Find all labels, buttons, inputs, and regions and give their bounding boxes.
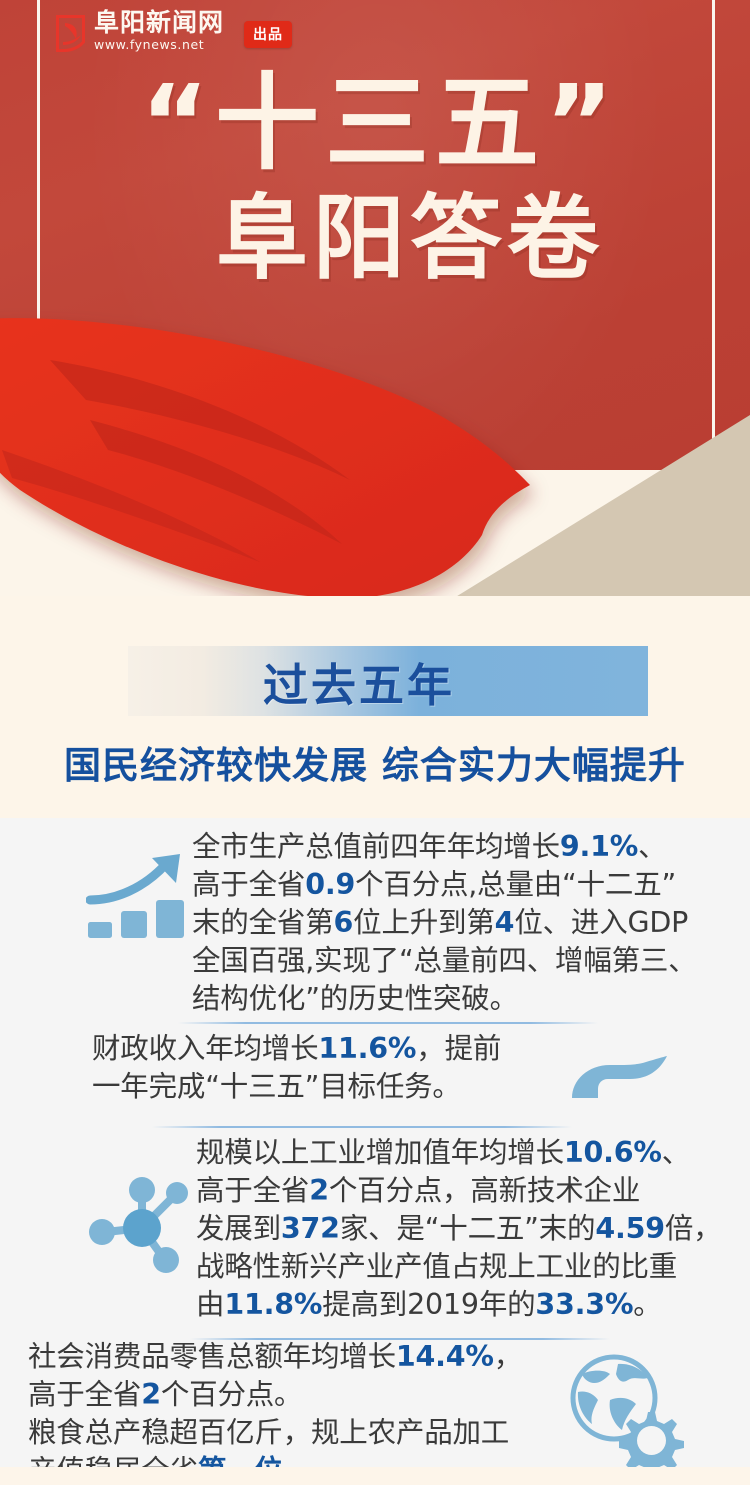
logo-text: 阜阳新闻网 www.fynews.net <box>94 10 224 52</box>
hero-section: 阜阳新闻网 www.fynews.net 出品 “十三五” 阜阳答卷 <box>0 0 750 640</box>
logo-site-name: 阜阳新闻网 <box>94 10 224 35</box>
highlight-value: 11.6% <box>318 1032 416 1065</box>
block-separator <box>152 1126 572 1128</box>
para-line: 全市生产总值前四年年均增长9.1%、 <box>192 828 740 866</box>
stat-block-retail-and-grain: 社会消费品零售总额年均增长14.4%， 高于全省2个百分点。 粮食总产稳超百亿斤… <box>0 1338 750 1485</box>
stat-block-fiscal-revenue: 财政收入年均增长11.6%，提前 一年完成“十三五”目标任务。 <box>0 1030 750 1106</box>
highlight-value: 14.4% <box>396 1340 494 1373</box>
infographic-page: 阜阳新闻网 www.fynews.net 出品 “十三五” 阜阳答卷 <box>0 0 750 1485</box>
highlight-value: 6 <box>334 906 354 939</box>
highlight-value: 10.6% <box>564 1136 662 1169</box>
site-logo[interactable]: 阜阳新闻网 www.fynews.net 出品 <box>56 10 292 52</box>
highlight-value: 4.59 <box>595 1212 665 1245</box>
content-section: 全市生产总值前四年年均增长9.1%、 高于全省0.9个百分点,总量由“十二五” … <box>0 818 750 1465</box>
para-line: 高于全省2个百分点。 <box>28 1376 568 1414</box>
highlight-value: 11.8% <box>224 1288 322 1321</box>
stat-block-gdp-growth: 全市生产总值前四年年均增长9.1%、 高于全省0.9个百分点,总量由“十二五” … <box>0 828 750 1018</box>
para-line: 战略性新兴产业产值占规上工业的比重 <box>196 1248 742 1286</box>
logo-site-url: www.fynews.net <box>94 39 224 52</box>
hand-holding-icon <box>568 1052 668 1112</box>
block-separator <box>178 1022 598 1024</box>
bottom-cream-strip <box>0 1467 750 1485</box>
produced-by-badge: 出品 <box>244 21 292 48</box>
highlight-value: 2 <box>141 1378 161 1411</box>
highlight-value: 4 <box>495 906 515 939</box>
para-line: 高于全省0.9个百分点,总量由“十二五” <box>192 866 740 904</box>
para-line: 财政收入年均增长11.6%，提前 <box>92 1030 562 1068</box>
para-line: 由11.8%提高到2019年的33.3%。 <box>196 1286 742 1324</box>
highlight-value: 372 <box>281 1212 340 1245</box>
growth-bar-chart-icon <box>86 850 190 950</box>
stat-block-industrial-value: 规模以上工业增加值年均增长10.6%、 高于全省2个百分点，高新技术企业 发展到… <box>0 1134 750 1324</box>
para-line: 结构优化”的历史性突破。 <box>192 980 740 1018</box>
section-subtitle: 国民经济较快发展 综合实力大幅提升 <box>0 735 750 789</box>
para-line: 社会消费品零售总额年均增长14.4%， <box>28 1338 568 1376</box>
para-line: 粮食总产稳超百亿斤，规上农产品加工 <box>28 1414 568 1452</box>
stat-text-fiscal-revenue: 财政收入年均增长11.6%，提前 一年完成“十三五”目标任务。 <box>92 1030 562 1106</box>
red-ribbon-decoration-icon <box>0 300 590 600</box>
highlight-value: 9.1% <box>560 830 638 863</box>
highlight-value: 2 <box>309 1174 329 1207</box>
para-line: 规模以上工业增加值年均增长10.6%、 <box>196 1134 742 1172</box>
para-line: 全国百强,实现了“总量前四、增幅第三、 <box>192 942 740 980</box>
para-line: 一年完成“十三五”目标任务。 <box>92 1068 562 1106</box>
section-banner-label: 过去五年 <box>128 646 648 716</box>
hero-title: “十三五” 阜阳答卷 <box>0 68 750 288</box>
para-line: 发展到372家、是“十二五”末的4.59倍， <box>196 1210 742 1248</box>
hero-title-line2: 阜阳答卷 <box>0 190 750 288</box>
highlight-value: 33.3% <box>535 1288 633 1321</box>
stat-text-industrial-value: 规模以上工业增加值年均增长10.6%、 高于全省2个百分点，高新技术企业 发展到… <box>196 1134 742 1324</box>
para-line: 高于全省2个百分点，高新技术企业 <box>196 1172 742 1210</box>
stat-text-gdp-growth: 全市生产总值前四年年均增长9.1%、 高于全省0.9个百分点,总量由“十二五” … <box>192 828 740 1018</box>
network-nodes-icon <box>86 1166 194 1274</box>
highlight-value: 0.9 <box>305 868 355 901</box>
globe-gear-icon <box>560 1350 688 1478</box>
hero-title-line1: “十三五” <box>0 68 750 178</box>
fynews-flag-logo-icon <box>56 15 85 52</box>
para-line: 末的全省第6位上升到第4位、进入GDP <box>192 904 740 942</box>
stat-text-retail-and-grain: 社会消费品零售总额年均增长14.4%， 高于全省2个百分点。 粮食总产稳超百亿斤… <box>28 1338 568 1485</box>
